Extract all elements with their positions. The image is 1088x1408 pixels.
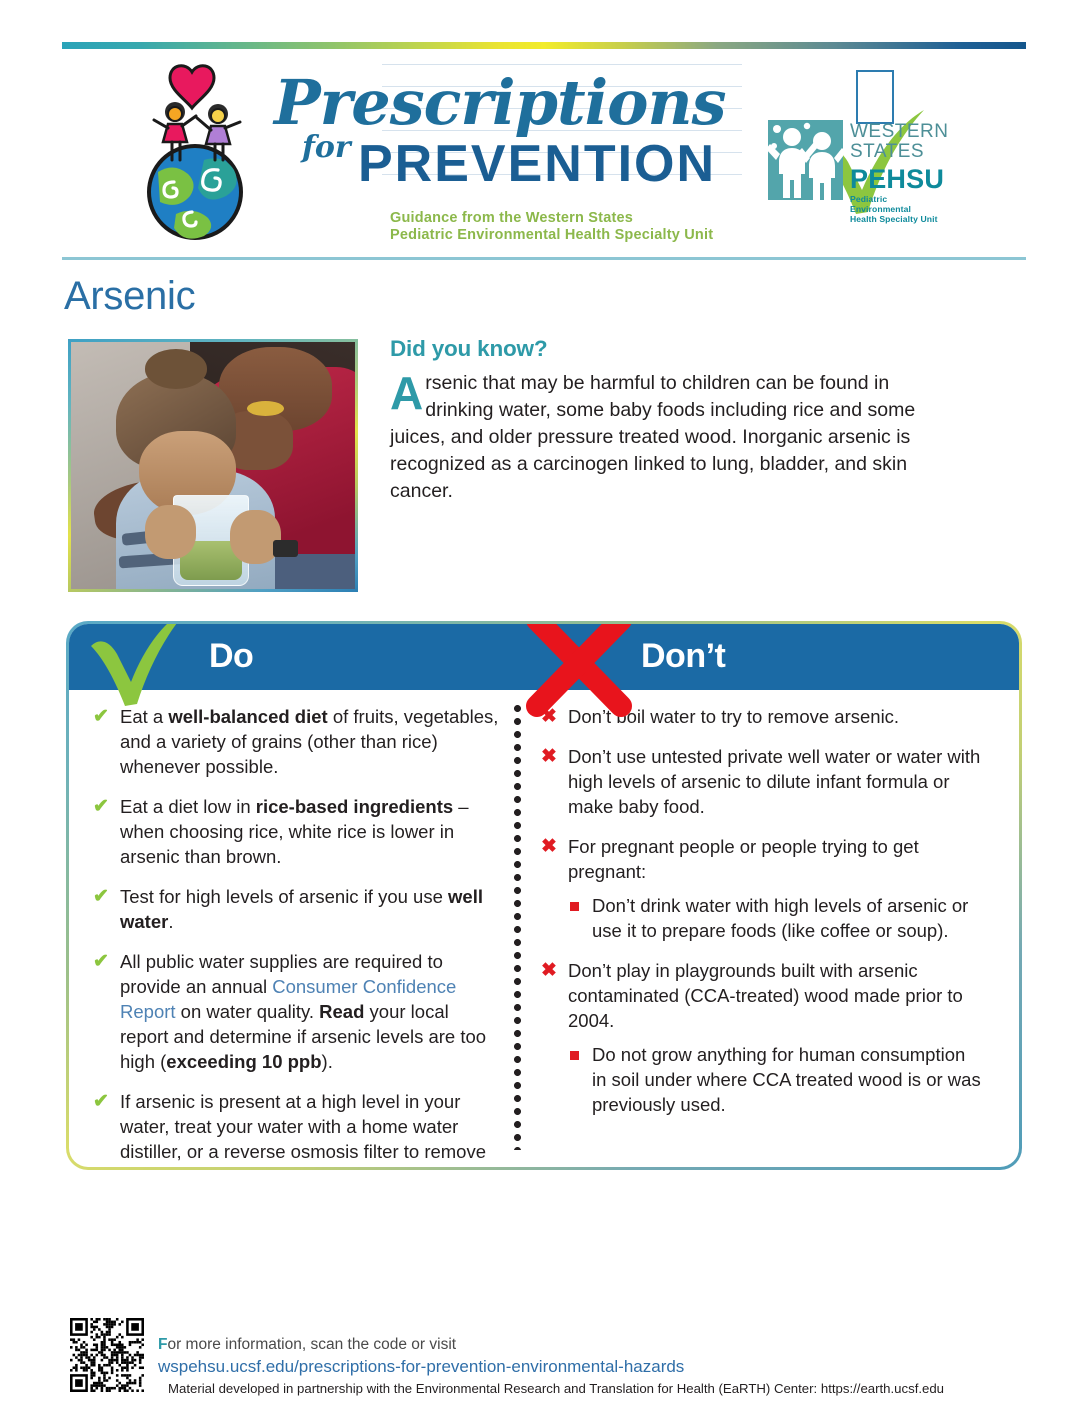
dont-list: ✖Don’t boil water to try to remove arsen… bbox=[541, 704, 981, 1117]
sub-list-item: Don’t drink water with high levels of ar… bbox=[568, 893, 981, 943]
x-mark-icon bbox=[521, 624, 641, 718]
dont-column-header: Don’t bbox=[641, 637, 725, 676]
check-icon: ✔ bbox=[93, 704, 109, 729]
top-gradient-rule bbox=[62, 42, 1026, 49]
list-item: ✔Eat a well-balanced diet of fruits, veg… bbox=[93, 704, 501, 779]
x-icon: ✖ bbox=[541, 834, 557, 859]
western-states-pehsu-logo: WESTERN STATES PEHSU Pediatric Environme… bbox=[768, 120, 943, 208]
header-divider-rule bbox=[62, 257, 1026, 260]
document-header: Prescriptions for PREVENTION Guidance fr… bbox=[62, 52, 1026, 248]
check-icon: ✔ bbox=[93, 794, 109, 819]
check-icon: ✔ bbox=[93, 884, 109, 909]
logo-states: STATES bbox=[850, 142, 949, 162]
do-column: ✔Eat a well-balanced diet of fruits, veg… bbox=[93, 704, 501, 1167]
dont-column: ✖Don’t boil water to try to remove arsen… bbox=[541, 704, 981, 1132]
footer-url[interactable]: wspehsu.ucsf.edu/prescriptions-for-preve… bbox=[158, 1355, 684, 1378]
page-title: Arsenic bbox=[64, 274, 195, 319]
document-page: Prescriptions for PREVENTION Guidance fr… bbox=[0, 0, 1088, 1408]
hero-photo bbox=[71, 342, 355, 589]
check-mark-icon bbox=[87, 624, 197, 706]
list-item: ✔Eat a diet low in rice-based ingredient… bbox=[93, 794, 501, 869]
did-you-know-body: Arsenic that may be harmful to children … bbox=[390, 370, 960, 505]
list-item: ✔All public water supplies are required … bbox=[93, 949, 501, 1074]
did-you-know-section: Did you know? Arsenic that may be harmfu… bbox=[390, 336, 960, 505]
list-item: ✖Don’t play in playgrounds built with ar… bbox=[541, 958, 981, 1117]
logo-acronym: PEHSU bbox=[850, 164, 949, 194]
x-icon: ✖ bbox=[541, 958, 557, 983]
sub-list: Don’t drink water with high levels of ar… bbox=[568, 893, 981, 943]
qr-code-icon[interactable] bbox=[70, 1318, 144, 1392]
tagline-line-2: Pediatric Environmental Health Specialty… bbox=[390, 227, 713, 244]
header-tagline: Guidance from the Western States Pediatr… bbox=[390, 210, 713, 244]
square-bullet-icon bbox=[570, 1051, 579, 1060]
column-divider-dots bbox=[513, 702, 522, 1150]
tagline-line-1: Guidance from the Western States bbox=[390, 210, 713, 227]
wordmark-prevention: PREVENTION bbox=[358, 134, 716, 194]
check-icon: ✔ bbox=[93, 949, 109, 974]
kids-on-globe-logo-icon bbox=[130, 64, 260, 244]
x-icon: ✖ bbox=[541, 744, 557, 769]
pehsu-figures-icon bbox=[768, 120, 843, 200]
list-item: ✖For pregnant people or people trying to… bbox=[541, 834, 981, 943]
check-icon: ✔ bbox=[93, 1089, 109, 1114]
prescriptions-for-prevention-wordmark: Prescriptions for PREVENTION bbox=[274, 56, 734, 206]
square-bullet-icon bbox=[570, 902, 579, 911]
drop-cap: A bbox=[390, 373, 423, 413]
list-item: ✖Don’t use untested private well water o… bbox=[541, 744, 981, 819]
sub-list-item: Do not grow anything for human consumpti… bbox=[568, 1042, 981, 1117]
list-item: ✔Test for high levels of arsenic if you … bbox=[93, 884, 501, 934]
footer-credit: Material developed in partnership with t… bbox=[168, 1380, 944, 1397]
do-dont-card: Do Don’t bbox=[66, 621, 1022, 1170]
do-column-header: Do bbox=[209, 637, 253, 676]
logo-western: WESTERN bbox=[850, 122, 949, 142]
logo-sub-line-2: Health Specialty Unit bbox=[850, 214, 949, 224]
did-you-know-heading: Did you know? bbox=[390, 336, 960, 362]
did-you-know-text: rsenic that may be harmful to children c… bbox=[390, 372, 915, 502]
wordmark-for: for bbox=[302, 130, 351, 165]
list-item: ✔If arsenic is present at a high level i… bbox=[93, 1089, 501, 1167]
document-footer: For more information, scan the code or v… bbox=[66, 1316, 1026, 1398]
hero-photo-frame bbox=[68, 339, 358, 592]
sub-list: Do not grow anything for human consumpti… bbox=[568, 1042, 981, 1117]
footer-instruction: For more information, scan the code or v… bbox=[158, 1334, 684, 1355]
wordmark-script: Prescriptions bbox=[274, 66, 726, 139]
logo-sub-line-1: Pediatric Environmental bbox=[850, 194, 949, 214]
footer-instruction-text: or more information, scan the code or vi… bbox=[167, 1336, 456, 1353]
do-list: ✔Eat a well-balanced diet of fruits, veg… bbox=[93, 704, 501, 1167]
